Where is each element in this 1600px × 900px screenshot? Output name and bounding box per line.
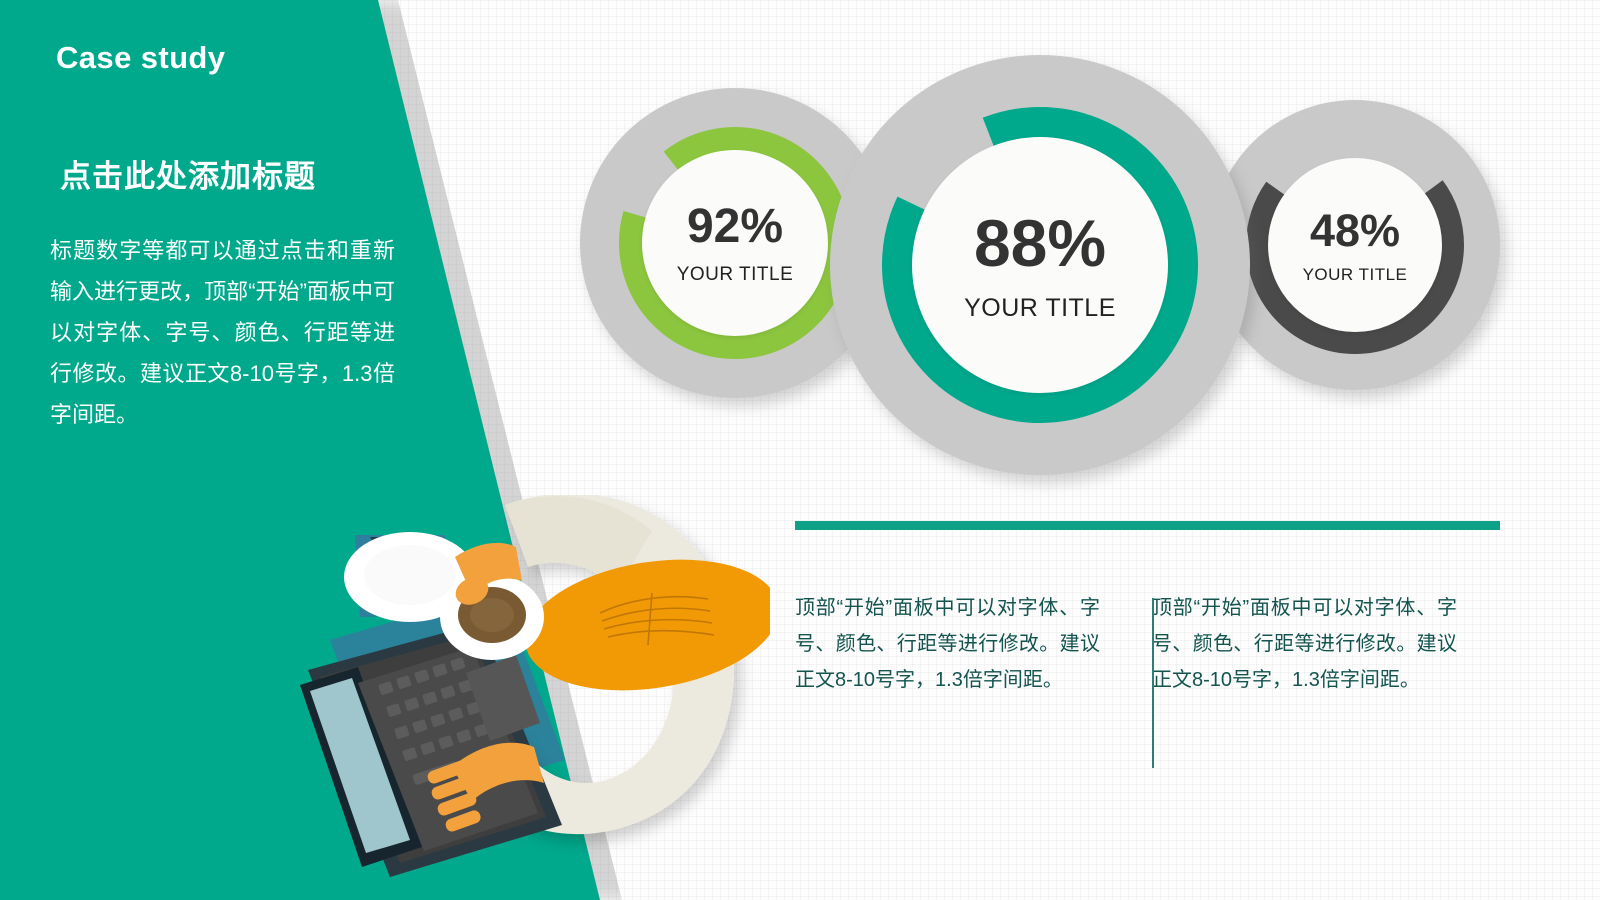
body-paragraph: 标题数字等都可以通过点击和重新输入进行更改，顶部“开始”面板中可以对字体、字号、… bbox=[50, 230, 395, 435]
donut-chart-88[interactable]: 88% YOUR TITLE bbox=[830, 55, 1250, 475]
illustration-person-at-laptop bbox=[300, 495, 770, 900]
donut-label-92: YOUR TITLE bbox=[677, 265, 794, 284]
donut-label-48: YOUR TITLE bbox=[1303, 266, 1408, 283]
donut-value-48: 48% bbox=[1310, 208, 1400, 253]
accent-divider-bar bbox=[795, 521, 1500, 530]
donut-value-92: 92% bbox=[687, 203, 783, 251]
footer-column-divider bbox=[1152, 598, 1154, 768]
footer-column-1: 顶部“开始”面板中可以对字体、字号、颜色、行距等进行修改。建议正文8-10号字，… bbox=[795, 590, 1100, 775]
coffee-cup-icon bbox=[440, 574, 544, 660]
donut-center-92: 92% YOUR TITLE bbox=[642, 150, 828, 336]
donut-value-88: 88% bbox=[974, 210, 1106, 276]
donut-center-88: 88% YOUR TITLE bbox=[912, 137, 1168, 393]
kicker-label: Case study bbox=[56, 40, 225, 76]
donut-chart-group: 92% YOUR TITLE 48% YOUR TITLE 88% bbox=[560, 55, 1520, 475]
donut-center-48: 48% YOUR TITLE bbox=[1268, 158, 1442, 332]
slide-canvas: Case study 点击此处添加标题 标题数字等都可以通过点击和重新输入进行更… bbox=[0, 0, 1600, 900]
footer-column-2: 顶部“开始”面板中可以对字体、字号、颜色、行距等进行修改。建议正文8-10号字，… bbox=[1152, 590, 1457, 775]
donut-label-88: YOUR TITLE bbox=[964, 296, 1116, 321]
page-title: 点击此处添加标题 bbox=[60, 151, 316, 196]
footer-text-columns: 顶部“开始”面板中可以对字体、字号、颜色、行距等进行修改。建议正文8-10号字，… bbox=[795, 590, 1505, 775]
